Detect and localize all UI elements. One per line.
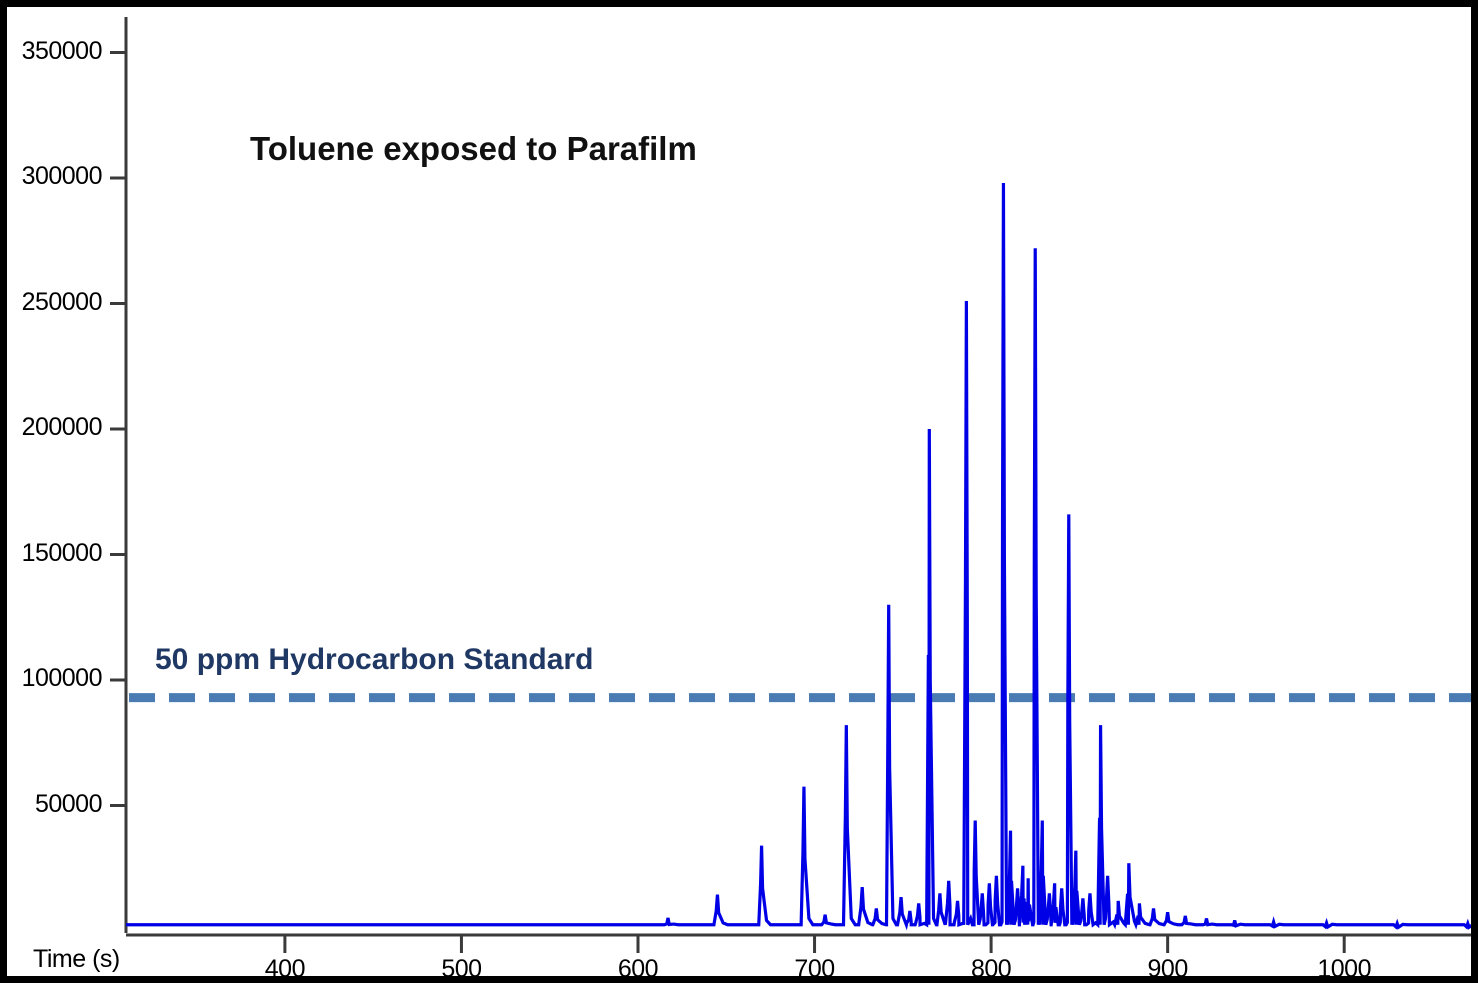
threshold-label: 50 ppm Hydrocarbon Standard bbox=[155, 643, 593, 677]
y-axis-ticks bbox=[110, 53, 126, 806]
y-tick-label: 150000 bbox=[2, 539, 102, 568]
page-title: Toluene exposed to Parafilm bbox=[250, 130, 697, 168]
y-tick-label: 200000 bbox=[2, 413, 102, 442]
x-tick-label: 500 bbox=[411, 955, 511, 983]
y-tick-label: 250000 bbox=[2, 288, 102, 317]
x-tick-label: 800 bbox=[941, 955, 1041, 983]
y-tick-label: 50000 bbox=[2, 790, 102, 819]
chromatogram-plot bbox=[7, 7, 1478, 983]
chromatogram-trace bbox=[126, 183, 1478, 927]
chart-frame: Toluene exposed to Parafilm 50 ppm Hydro… bbox=[0, 0, 1478, 983]
y-tick-label: 350000 bbox=[2, 37, 102, 66]
x-tick-label: 700 bbox=[765, 955, 865, 983]
x-tick-label: 900 bbox=[1118, 955, 1218, 983]
x-tick-label: 400 bbox=[235, 955, 335, 983]
signal-trace-path bbox=[126, 183, 1478, 927]
x-axis-ticks bbox=[285, 935, 1344, 953]
y-tick-label: 100000 bbox=[2, 664, 102, 693]
chart-canvas bbox=[7, 7, 1478, 983]
x-axis-title: Time (s) bbox=[33, 945, 120, 974]
x-tick-label: 1000 bbox=[1294, 955, 1394, 983]
y-tick-label: 300000 bbox=[2, 162, 102, 191]
x-tick-label: 600 bbox=[588, 955, 688, 983]
